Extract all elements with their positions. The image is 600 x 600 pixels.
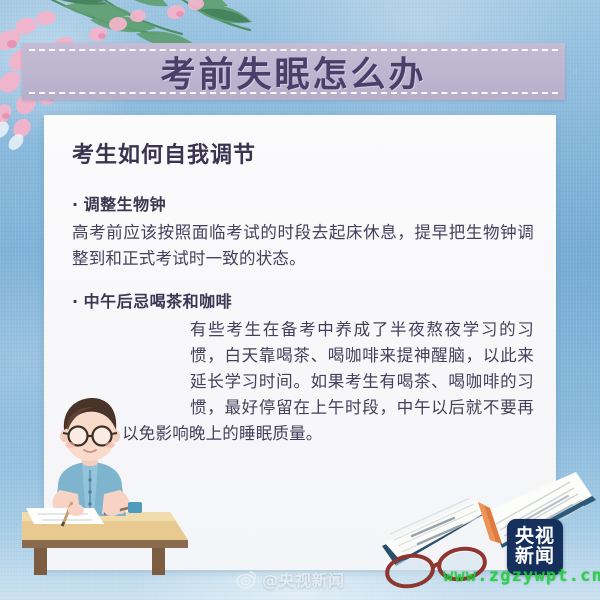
weibo-icon bbox=[236, 569, 257, 590]
text-wrap-spacer bbox=[72, 317, 190, 399]
section-body: 高考前应该按照面临考试的时段去起床休息，提早把生物钟调整到和正式考试时一致的状态… bbox=[72, 220, 534, 272]
page-title: 考前失眠怎么办 bbox=[22, 46, 565, 97]
section-title: ·调整生物钟 bbox=[72, 191, 534, 215]
bullet-dot-icon: · bbox=[72, 292, 79, 311]
title-banner: 考前失眠怎么办 bbox=[22, 43, 565, 100]
section-title-text: 调整生物钟 bbox=[84, 195, 167, 214]
weibo-credit: @央视新闻 bbox=[236, 567, 345, 591]
logo-line-2: 新闻 bbox=[515, 547, 555, 567]
poster-canvas: 考前失眠怎么办 考生如何自我调节 ·调整生物钟 高考前应该按照面临考试的时段去起… bbox=[0, 0, 600, 600]
student-illustration bbox=[20, 390, 210, 575]
card-heading: 考生如何自我调节 bbox=[72, 137, 534, 169]
section-title: ·中午后忌喝茶和咖啡 bbox=[72, 288, 534, 312]
url-watermark: www.zgzywpt.cn bbox=[443, 566, 600, 586]
section-adjust-biological-clock: ·调整生物钟 高考前应该按照面临考试的时段去起床休息，提早把生物钟调整到和正式考… bbox=[72, 191, 534, 272]
logo-line-1: 央视 bbox=[515, 527, 555, 547]
section-title-text: 中午后忌喝茶和咖啡 bbox=[84, 292, 233, 311]
weibo-handle: @央视新闻 bbox=[262, 567, 345, 591]
bullet-dot-icon: · bbox=[72, 195, 79, 214]
